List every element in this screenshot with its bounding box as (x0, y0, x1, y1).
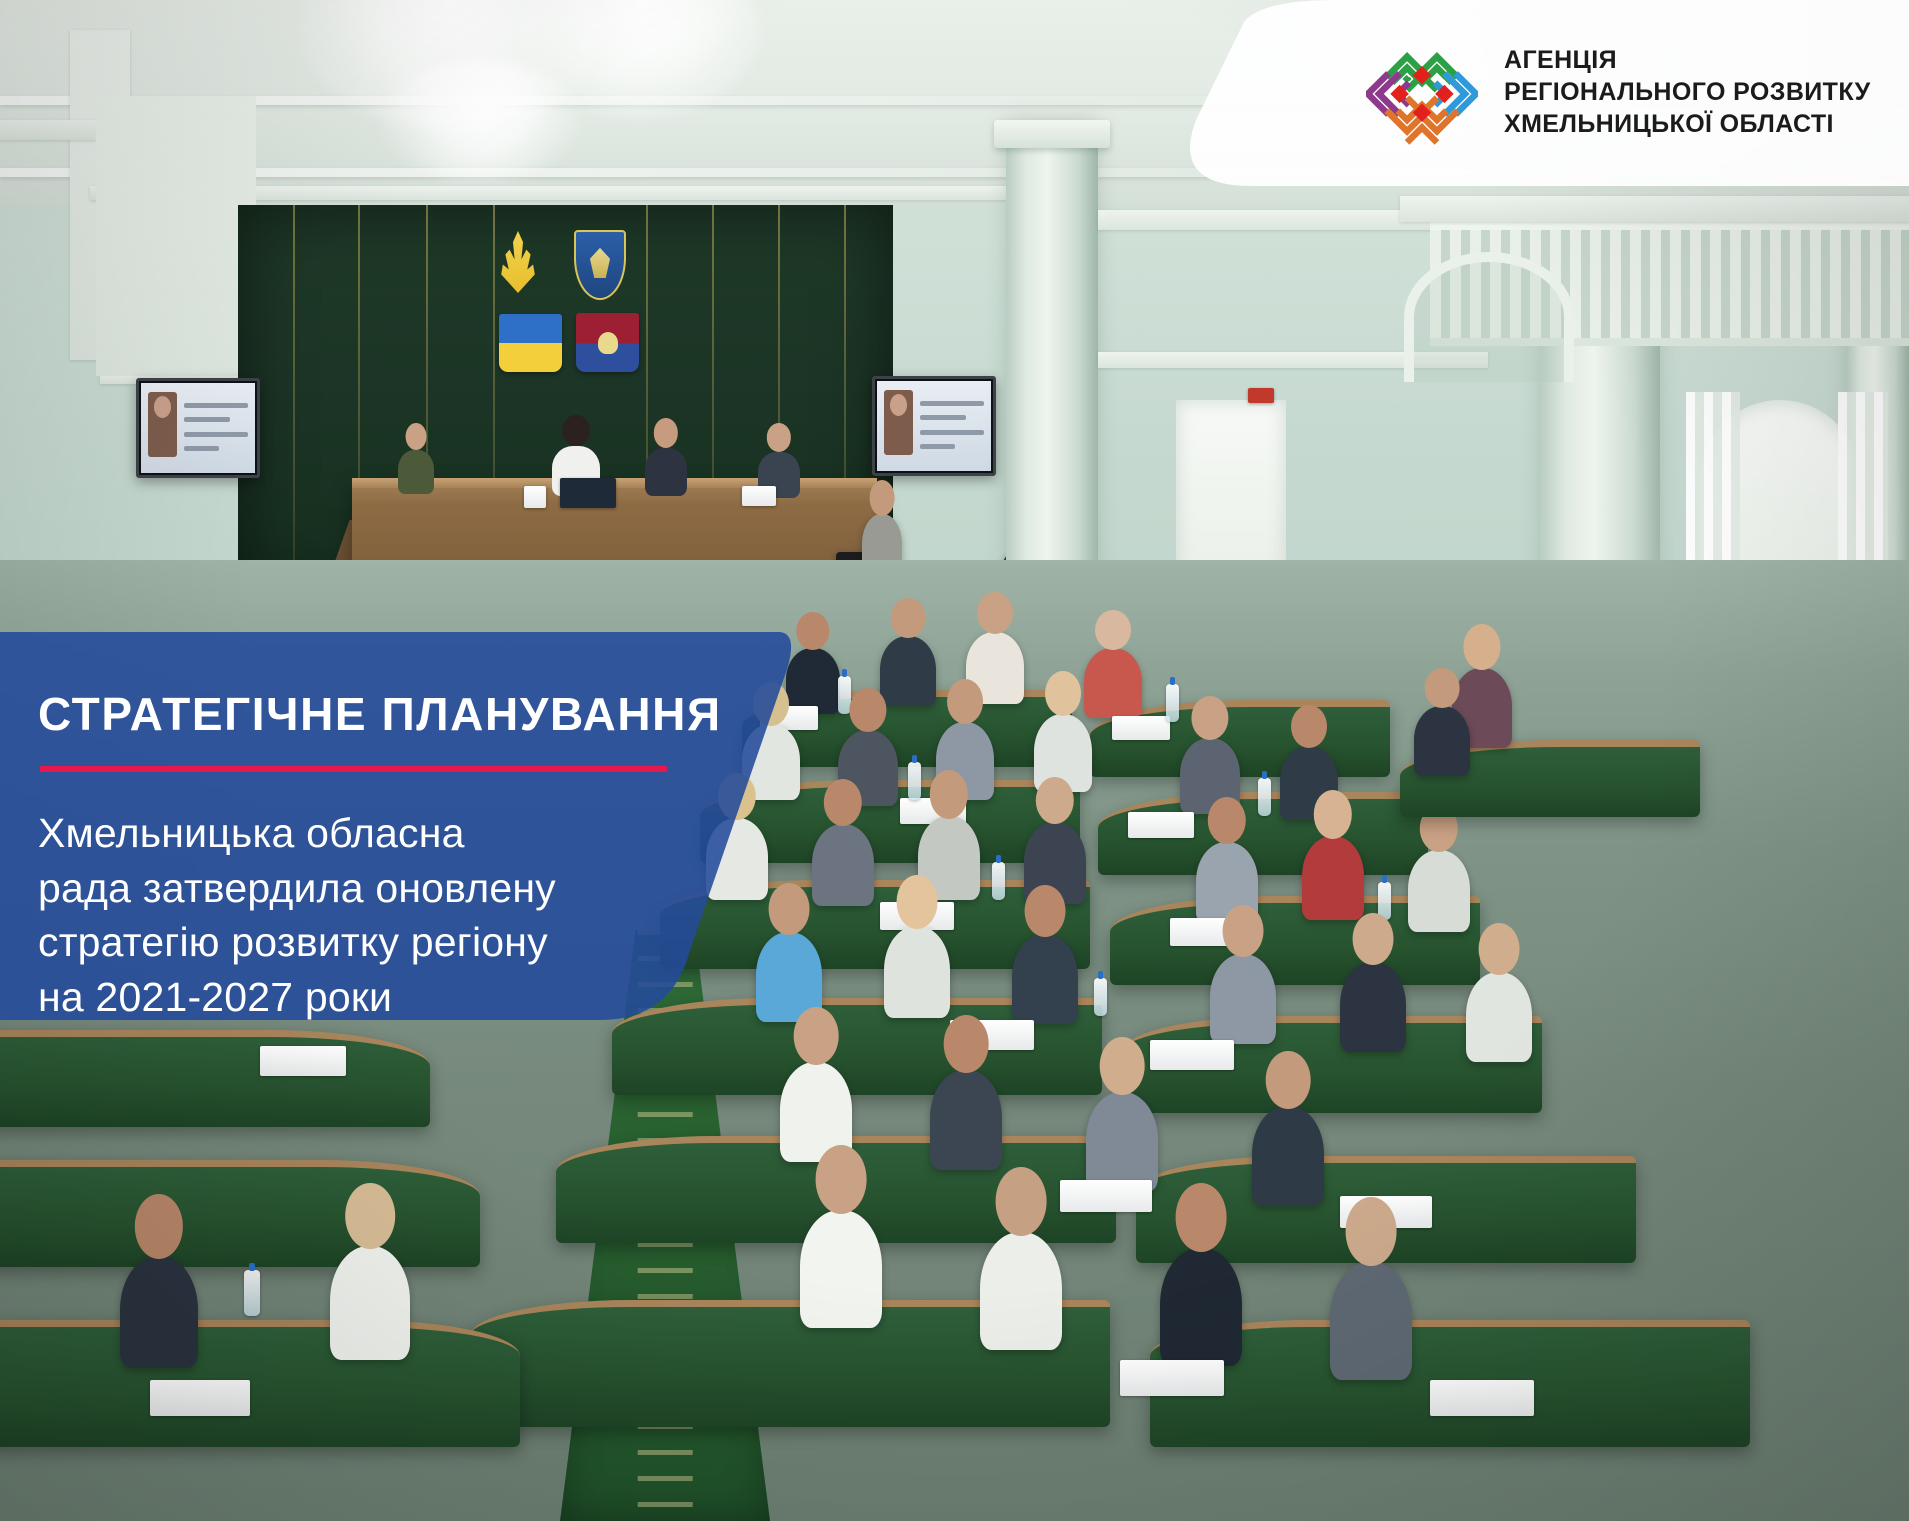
attendee (884, 926, 950, 1018)
display-screen-left (136, 378, 260, 478)
attendee (800, 1210, 882, 1328)
attendee (1084, 648, 1142, 718)
water-bottle (992, 862, 1005, 900)
chandelier-light (380, 60, 580, 180)
bench-row (0, 1320, 520, 1447)
water-bottle (244, 1270, 260, 1316)
desk-paper (1430, 1380, 1534, 1416)
balcony-ledge (1400, 196, 1909, 222)
ukraine-flag-icon (499, 314, 562, 372)
desk-paper (524, 486, 546, 508)
wall-moulding (0, 120, 96, 140)
desk-paper (1060, 1180, 1152, 1212)
arch-detail (1404, 252, 1574, 382)
attendee (980, 1232, 1062, 1350)
bench-row (0, 1160, 480, 1267)
attendee (1330, 1262, 1412, 1380)
logo-line-2: РЕГІОНАЛЬНОГО РОЗВИТКУ (1504, 77, 1871, 109)
water-bottle (908, 762, 921, 800)
desk-paper (150, 1380, 250, 1416)
arr-ornament-logo-icon (1366, 32, 1478, 154)
logo-wordmark: АГЕНЦІЯ РЕГІОНАЛЬНОГО РОЗВИТКУ ХМЕЛЬНИЦЬ… (1504, 45, 1871, 140)
water-bottle (1094, 978, 1107, 1016)
attendee (1414, 706, 1470, 776)
body-line-1: Хмельницька обласна (38, 806, 800, 861)
column-capital (994, 120, 1110, 148)
attendee (1252, 1106, 1324, 1206)
exit-sign-icon (1248, 388, 1274, 403)
attendee (330, 1246, 410, 1360)
desk-paper (742, 486, 776, 506)
bench-row (0, 1030, 430, 1127)
attendee (1408, 850, 1470, 932)
logo-line-3: ХМЕЛЬНИЦЬКОЇ ОБЛАСТІ (1504, 109, 1871, 141)
attendee (930, 1070, 1002, 1170)
laptop (560, 478, 616, 508)
water-bottle (1166, 684, 1179, 722)
body-line-3: стратегію розвитку регіону (38, 915, 800, 970)
attendee (1302, 836, 1364, 920)
attendee (880, 636, 936, 706)
attendee (1160, 1248, 1242, 1366)
title-divider (40, 766, 667, 772)
attendee (1210, 954, 1276, 1044)
attendee (1340, 962, 1406, 1052)
attendee (1466, 972, 1532, 1062)
presidium-person (398, 450, 434, 494)
desk-paper (1120, 1360, 1224, 1396)
display-screen-right (872, 376, 996, 476)
attendee (120, 1256, 198, 1368)
water-bottle (1258, 778, 1271, 816)
presidium-person (645, 448, 687, 496)
attendee (786, 648, 840, 714)
desk-paper (1112, 716, 1170, 740)
attendee (1086, 1092, 1158, 1192)
attendee (1012, 934, 1078, 1024)
khmelnytskyi-flag-icon (576, 313, 639, 372)
desk-paper (1150, 1040, 1234, 1070)
attendee (812, 824, 874, 906)
body-line-2: рада затвердила оновлену (38, 861, 800, 916)
poster-canvas: АГЕНЦІЯ РЕГІОНАЛЬНОГО РОЗВИТКУ ХМЕЛЬНИЦЬ… (0, 0, 1909, 1521)
desk-paper (260, 1046, 346, 1076)
headline-panel: СТРАТЕГІЧНЕ ПЛАНУВАННЯ Хмельницька облас… (0, 632, 800, 1020)
desk-paper (1128, 812, 1194, 838)
logo-line-1: АГЕНЦІЯ (1504, 45, 1871, 77)
wall-panel (96, 96, 256, 376)
page-title: СТРАТЕГІЧНЕ ПЛАНУВАННЯ (38, 690, 800, 738)
